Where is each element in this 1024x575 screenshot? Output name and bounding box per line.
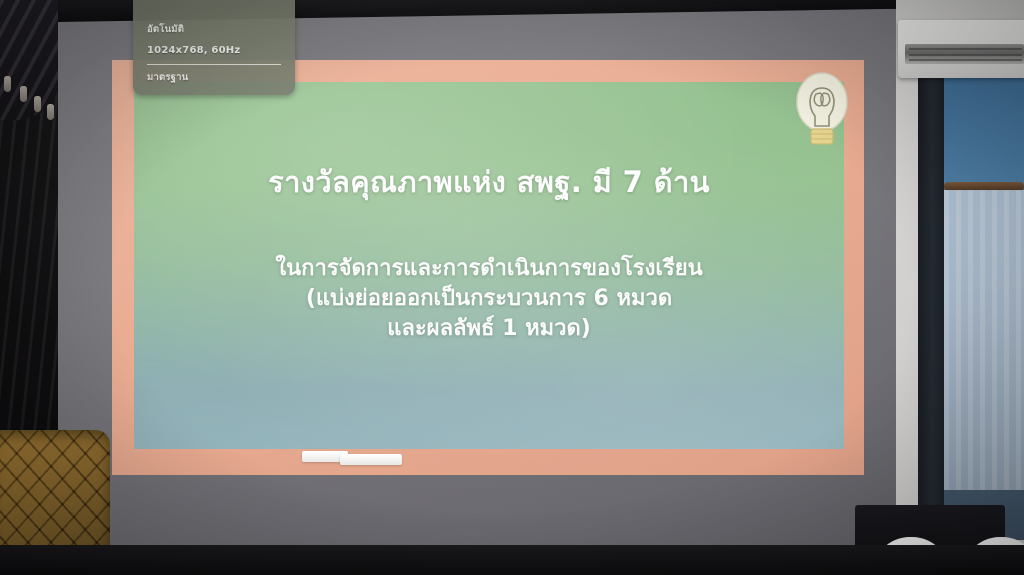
slide-body-line-2: (แบ่งย่อยออกเป็นกระบวนการ 6 หมวด (275, 284, 702, 314)
air-conditioner-vent (905, 44, 1024, 64)
chalkboard-panel: รางวัลคุณภาพแห่ง สพฐ. มี 7 ด้าน ในการจัด… (134, 82, 844, 449)
osd-input-mode: อัตโนมัติ (147, 22, 281, 37)
projected-slide: รางวัลคุณภาพแห่ง สพฐ. มี 7 ด้าน ในการจัด… (112, 60, 864, 475)
photo-scene: รางวัลคุณภาพแห่ง สพฐ. มี 7 ด้าน ในการจัด… (0, 0, 1024, 575)
monitor-osd-panel: ข้อมูล อัตโนมัติ 1024x768, 60Hz มาตรฐาน (133, 0, 295, 95)
slide-frame-border: รางวัลคุณภาพแห่ง สพฐ. มี 7 ด้าน ในการจัด… (112, 60, 864, 475)
osd-resolution: 1024x768, 60Hz (147, 45, 281, 56)
foreground-shadow-band (0, 545, 1024, 575)
sheer-curtain (944, 190, 1024, 490)
chalk-piece (340, 454, 402, 465)
slide-body-line-1: ในการจัดการและการดำเนินการของโรงเรียน (275, 254, 702, 284)
curtain-tassel (47, 104, 54, 120)
osd-preset-mode: มาตรฐาน (147, 70, 281, 85)
dark-pillar (918, 68, 944, 548)
slide-title: รางวัลคุณภาพแห่ง สพฐ. มี 7 ด้าน (268, 164, 710, 200)
slide-content: รางวัลคุณภาพแห่ง สพฐ. มี 7 ด้าน ในการจัด… (134, 82, 844, 449)
osd-separator (147, 64, 281, 65)
curtain-tassel (4, 76, 11, 92)
curtain-tassel (34, 96, 41, 112)
slide-body: ในการจัดการและการดำเนินการของโรงเรียน (แ… (275, 254, 702, 343)
curtain-tassel (20, 86, 27, 102)
slide-body-line-3: และผลลัพธ์ 1 หมวด) (275, 314, 702, 344)
